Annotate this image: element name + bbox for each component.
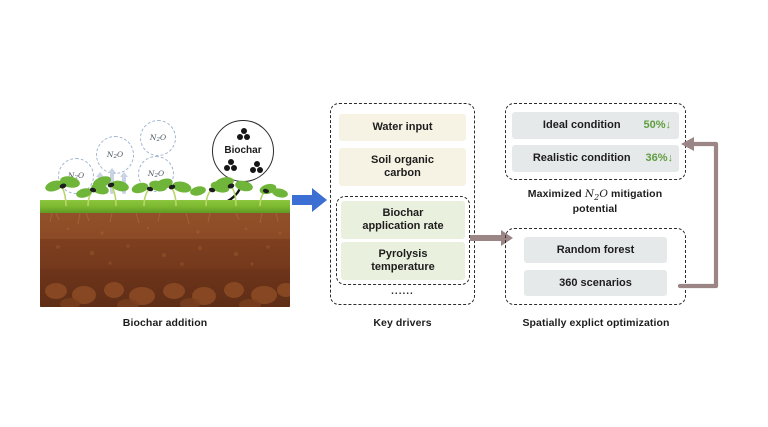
drivers-ellipsis: ...... xyxy=(330,286,475,297)
soil-cross-section xyxy=(40,200,290,307)
driver-label: Biochar application rate xyxy=(362,207,443,233)
method-chip-random-forest[interactable]: Random forest xyxy=(524,237,667,263)
result-value: 36%↓ xyxy=(645,152,673,165)
result-value: 50%↓ xyxy=(643,119,671,132)
pebble-layer xyxy=(40,269,290,307)
biochar-label: Biochar xyxy=(213,145,273,156)
method-label: 360 scenarios xyxy=(559,277,632,290)
subsoil-layer xyxy=(40,239,290,269)
driver-label: Soil organic carbon xyxy=(371,154,434,180)
caption-spatially-explicit-optimization: Spatially explict optimization xyxy=(490,317,702,330)
trefoil-particle-icon xyxy=(237,128,250,140)
driver-chip-water-input[interactable]: Water input xyxy=(339,114,466,141)
driver-label: Water input xyxy=(372,121,432,134)
n2o-formula: N2O xyxy=(585,188,608,200)
result-row-realistic-condition[interactable]: Realistic condition 36%↓ xyxy=(512,145,679,172)
n2o-formula: N2O xyxy=(150,133,166,143)
biochar-illustration: N2O N2O N2O N2O Biochar xyxy=(40,104,290,307)
driver-chip-soil-organic-carbon[interactable]: Soil organic carbon xyxy=(339,148,466,186)
driver-chip-pyrolysis-temperature[interactable]: Pyrolysis temperature xyxy=(341,242,465,280)
seedling-row xyxy=(40,156,290,208)
blue-right-arrow-icon xyxy=(292,186,328,214)
topsoil-layer xyxy=(40,213,290,239)
result-row-ideal-condition[interactable]: Ideal condition 50%↓ xyxy=(512,112,679,139)
driver-chip-biochar-application-rate[interactable]: Biochar application rate xyxy=(341,201,465,239)
driver-label: Pyrolysis temperature xyxy=(371,248,435,274)
n2o-bubble: N2O xyxy=(140,120,176,156)
caption-key-drivers: Key drivers xyxy=(330,317,475,330)
figure-canvas: N2O N2O N2O N2O Biochar xyxy=(0,0,768,427)
mauve-feedback-loop-arrow xyxy=(676,130,732,290)
result-label: Ideal condition xyxy=(520,119,643,132)
result-label: Realistic condition xyxy=(518,152,645,165)
method-chip-360-scenarios[interactable]: 360 scenarios xyxy=(524,270,667,296)
caption-mitigation-potential: Maximized N2O mitigation potential xyxy=(490,188,700,216)
method-label: Random forest xyxy=(557,244,635,257)
caption-biochar-addition: Biochar addition xyxy=(40,317,290,330)
